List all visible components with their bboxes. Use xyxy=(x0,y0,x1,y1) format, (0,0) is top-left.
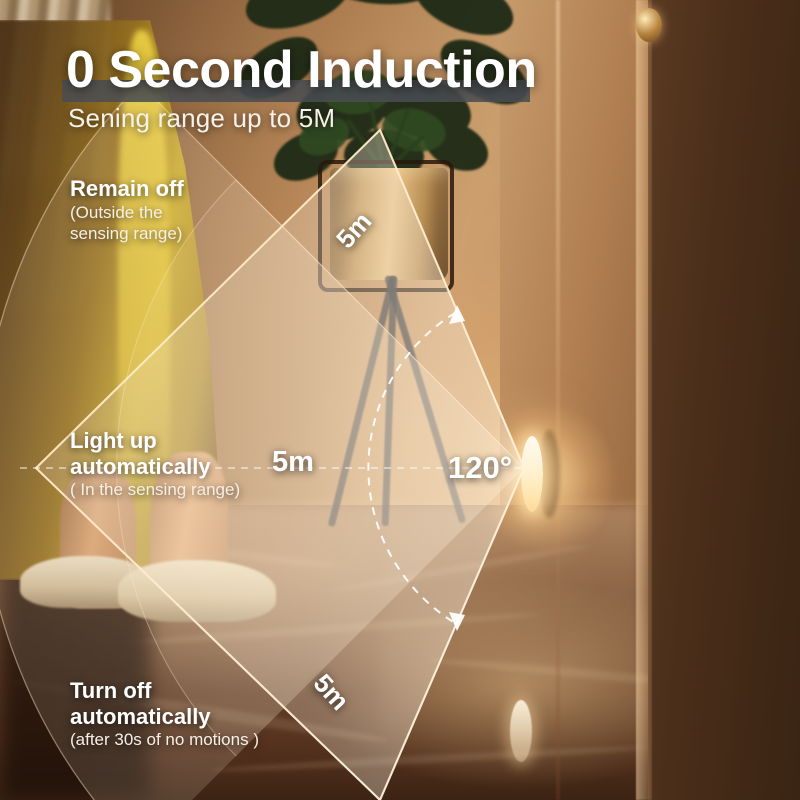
callout-light-up-heading-1: Light up xyxy=(70,428,240,454)
callout-turn-off-heading-1: Turn off xyxy=(70,678,259,704)
callout-light-up-detail: ( In the sensing range) xyxy=(70,479,240,500)
range-label-center: 5m xyxy=(272,446,314,479)
callout-remain-off: Remain off (Outside the sensing range) xyxy=(70,176,184,244)
callout-remain-off-detail-1: (Outside the xyxy=(70,202,184,223)
page-subtitle: Sening range up to 5M xyxy=(68,103,335,134)
callout-remain-off-heading: Remain off xyxy=(70,176,184,202)
callout-turn-off-detail: (after 30s of no motions ) xyxy=(70,729,259,750)
callout-turn-off-heading-2: automatically xyxy=(70,704,259,730)
product-feature-image: 0 Second Induction Sening range up to 5M… xyxy=(0,0,800,800)
callout-light-up: Light up automatically ( In the sensing … xyxy=(70,428,240,500)
page-title: 0 Second Induction xyxy=(66,40,537,100)
callout-light-up-heading-2: automatically xyxy=(70,454,240,480)
callout-turn-off: Turn off automatically (after 30s of no … xyxy=(70,678,259,750)
angle-label: 120° xyxy=(448,450,512,486)
callout-remain-off-detail-2: sensing range) xyxy=(70,223,184,244)
